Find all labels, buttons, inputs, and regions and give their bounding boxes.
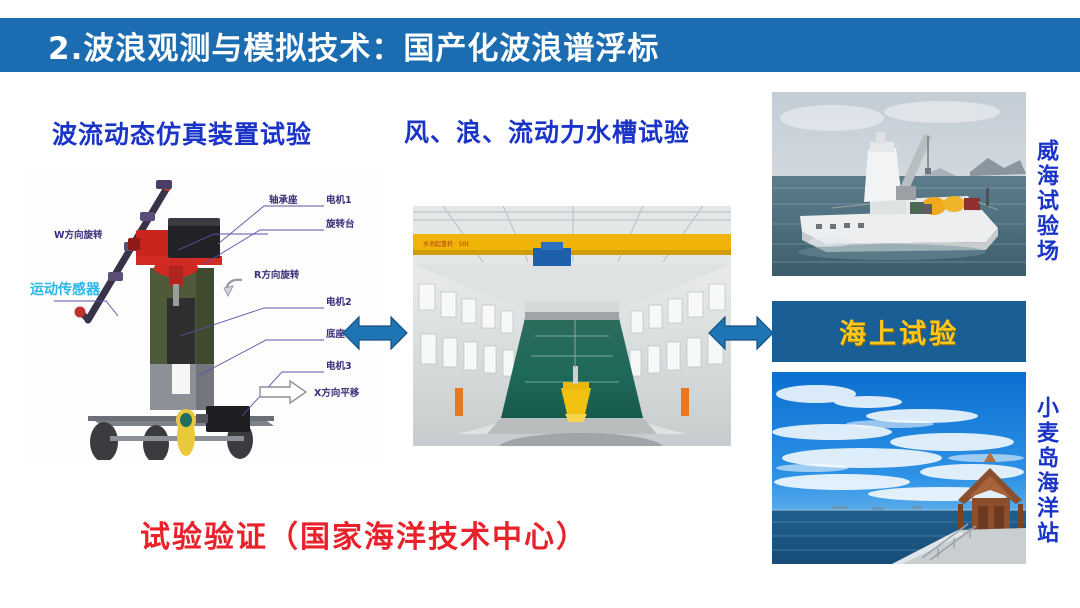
motor1-body (168, 218, 220, 258)
label-bearing-seat: 轴承座 (269, 194, 298, 206)
label-turntable: 旋转台 (325, 218, 355, 230)
page-title: 2.波浪观测与模拟技术：国产化波浪谱浮标 (48, 23, 659, 68)
xiaomaidao-station-photo (772, 372, 1026, 564)
rig-column (150, 268, 214, 410)
cad-diagram-svg: W方向旋转 运动传感器 (28, 168, 378, 460)
slide-canvas: 2.波浪观测与模拟技术：国产化波浪谱浮标 波流动态仿真装置试验 风、浪、流动力水… (0, 0, 1080, 608)
label-motor1: 电机1 (326, 194, 352, 206)
label-motor3: 电机3 (326, 360, 352, 372)
heading-left: 波流动态仿真装置试验 (52, 115, 312, 151)
double-arrow-right (707, 311, 775, 360)
caption-xiaomaidao-station: 小麦岛海洋站 (1034, 396, 1056, 546)
label-r-rotation: R方向旋转 (254, 269, 300, 281)
caption-validation: 试验验证（国家海洋技术中心） (140, 512, 588, 556)
sea-trial-label: 海上试验 (839, 312, 959, 351)
label-w-rotation: W方向旋转 (54, 229, 103, 241)
svg-text:水池起重机 · 50t: 水池起重机 · 50t (423, 240, 469, 248)
sea-trial-vessel-photo (772, 92, 1026, 276)
label-motion-sensor: 运动传感器 (30, 281, 101, 298)
double-arrow-left (341, 311, 409, 360)
wind-wave-current-flume-photo: 水池起重机 · 50t (413, 206, 731, 446)
label-motor2: 电机2 (326, 296, 352, 308)
cad-diagram-panel: W方向旋转 运动传感器 (28, 168, 378, 460)
caption-weihai-test-site: 威海试验场 (1034, 139, 1056, 264)
heading-center: 风、浪、流动力水槽试验 (404, 113, 690, 149)
label-x-translation: X方向平移 (314, 387, 360, 399)
slide-title-bar: 2.波浪观测与模拟技术：国产化波浪谱浮标 (0, 18, 1080, 72)
sea-trial-label-box: 海上试验 (772, 301, 1026, 362)
